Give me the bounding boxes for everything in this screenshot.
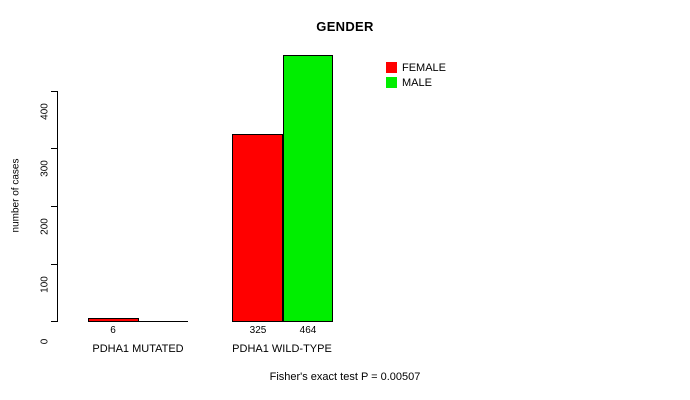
chart-title: GENDER (0, 19, 690, 34)
y-tick-mark-300 (51, 148, 57, 149)
legend-swatch-female-icon (386, 62, 397, 73)
y-tick-mark-100 (51, 264, 57, 265)
y-tick-label-100: 100 (40, 265, 51, 305)
y-tick-mark-400 (51, 91, 57, 92)
group-label-wildtype: PDHA1 WILD-TYPE (202, 343, 362, 355)
y-axis-line (57, 91, 58, 322)
y-axis-title: number of cases (11, 146, 22, 246)
gender-bar-chart: GENDER 0 100 200 300 400 number of cases… (0, 0, 690, 400)
bar-mutated-male (139, 321, 188, 322)
legend-label-male: MALE (402, 77, 432, 89)
group-label-mutated: PDHA1 MUTATED (58, 343, 218, 355)
y-tick-label-200: 200 (40, 207, 51, 247)
bar-wildtype-male (283, 55, 333, 322)
y-tick-label-300: 300 (40, 149, 51, 189)
legend-label-female: FEMALE (402, 62, 446, 74)
legend-item-male: MALE (386, 75, 446, 90)
y-tick-mark-0 (51, 321, 57, 322)
legend-swatch-male-icon (386, 77, 397, 88)
y-tick-label-0: 0 (40, 322, 51, 362)
bar-wildtype-female (232, 134, 283, 322)
y-tick-label-400: 400 (40, 92, 51, 132)
chart-legend: FEMALE MALE (386, 60, 446, 90)
y-tick-mark-200 (51, 206, 57, 207)
statistical-test-annotation: Fisher's exact test P = 0.00507 (0, 371, 690, 383)
value-label-wildtype-male: 464 (278, 325, 338, 336)
legend-item-female: FEMALE (386, 60, 446, 75)
bar-mutated-female (88, 318, 139, 322)
value-label-mutated-female: 6 (83, 325, 143, 336)
